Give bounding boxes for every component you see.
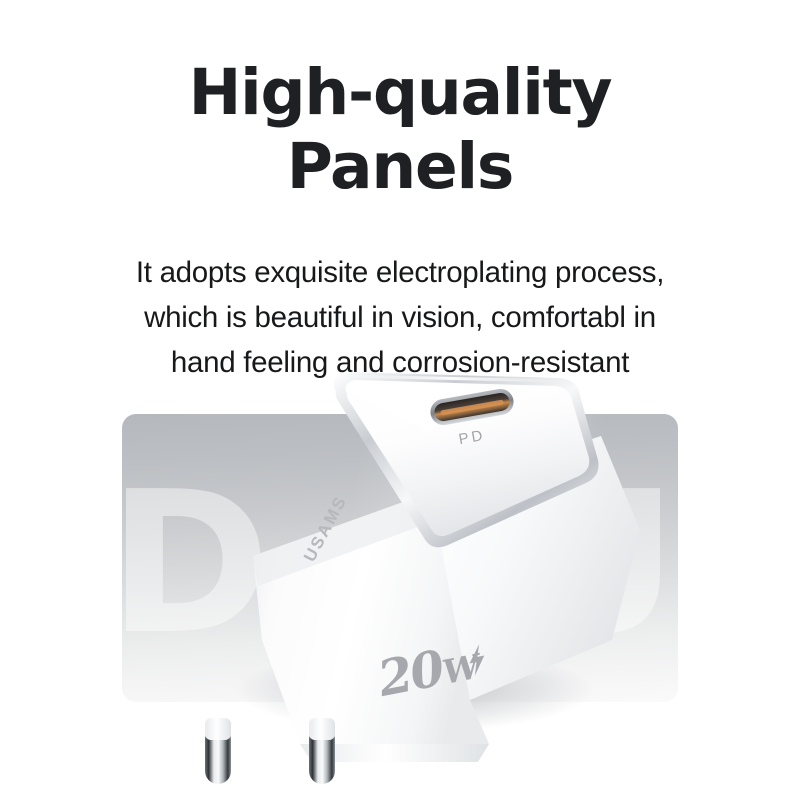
page-title: High-quality Panels xyxy=(0,56,800,204)
headline-line-1: High-quality xyxy=(189,56,612,129)
plug-prong-left xyxy=(205,726,231,784)
watermark-letter-right: U xyxy=(519,466,678,662)
plug-prong-left-base xyxy=(205,718,231,740)
lightning-bolt-icon xyxy=(457,640,497,680)
description-line-1: It adopts exquisite electroplating proce… xyxy=(52,250,748,295)
product-feature-banner: High-quality Panels It adopts exquisite … xyxy=(0,0,800,800)
watermark-letter-left: D xyxy=(122,466,275,662)
headline-line-2: Panels xyxy=(0,130,800,204)
plug-prong-right-base xyxy=(309,718,335,740)
eu-plug xyxy=(205,718,489,784)
power-rating-value: 20 xyxy=(373,639,447,708)
plug-neck xyxy=(300,744,489,762)
description-text: It adopts exquisite electroplating proce… xyxy=(52,250,748,385)
description-line-2: which is beautiful in vision, comfortabl… xyxy=(52,295,748,340)
description-line-3: hand feeling and corrosion-resistant xyxy=(52,340,748,385)
plug-prong-right xyxy=(309,726,335,784)
